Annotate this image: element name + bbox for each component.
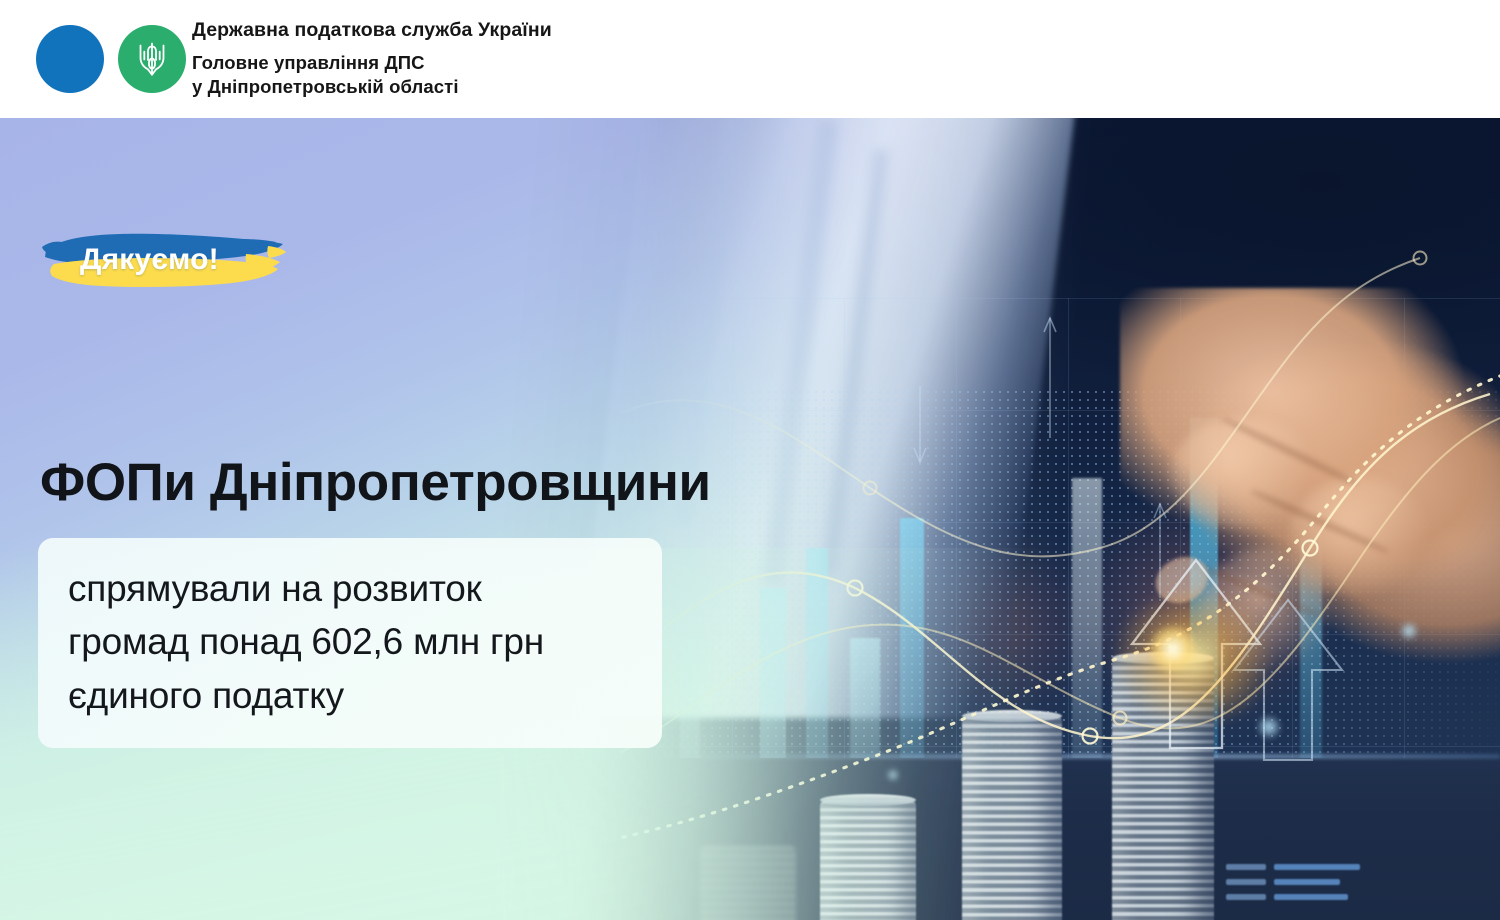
page-title: ФОПи Дніпропетровщини: [40, 456, 711, 509]
agency-logo: [36, 23, 186, 95]
poster-root: Державна податкова служба України Головн…: [0, 0, 1500, 920]
agency-name: Державна податкова служба України: [192, 19, 552, 43]
agency-title-block: Державна податкова служба України Головн…: [192, 19, 552, 100]
statement-line-2: громад понад 602,6 млн грн: [68, 615, 632, 668]
poster-stage: Дякуємо! ФОПи Дніпропетровщини спрямувал…: [0, 118, 1500, 920]
logo-blue-circle-icon: [36, 25, 104, 93]
trident-icon: [135, 38, 169, 80]
agency-region: у Дніпропетровській області: [192, 75, 552, 99]
statement-line-1: спрямували на розвиток: [68, 562, 632, 615]
statement-line-3: єдиного податку: [68, 669, 632, 722]
poster-content: Дякуємо! ФОПи Дніпропетровщини спрямувал…: [0, 118, 1500, 920]
logo-green-circle-icon: [118, 25, 186, 93]
agency-department: Головне управління ДПС: [192, 51, 552, 75]
statement-card: спрямували на розвиток громад понад 602,…: [38, 538, 662, 748]
thank-you-label: Дякуємо!: [80, 243, 219, 277]
thank-you-badge: Дякуємо!: [40, 230, 288, 300]
page-header: Державна податкова служба України Головн…: [0, 0, 1500, 118]
